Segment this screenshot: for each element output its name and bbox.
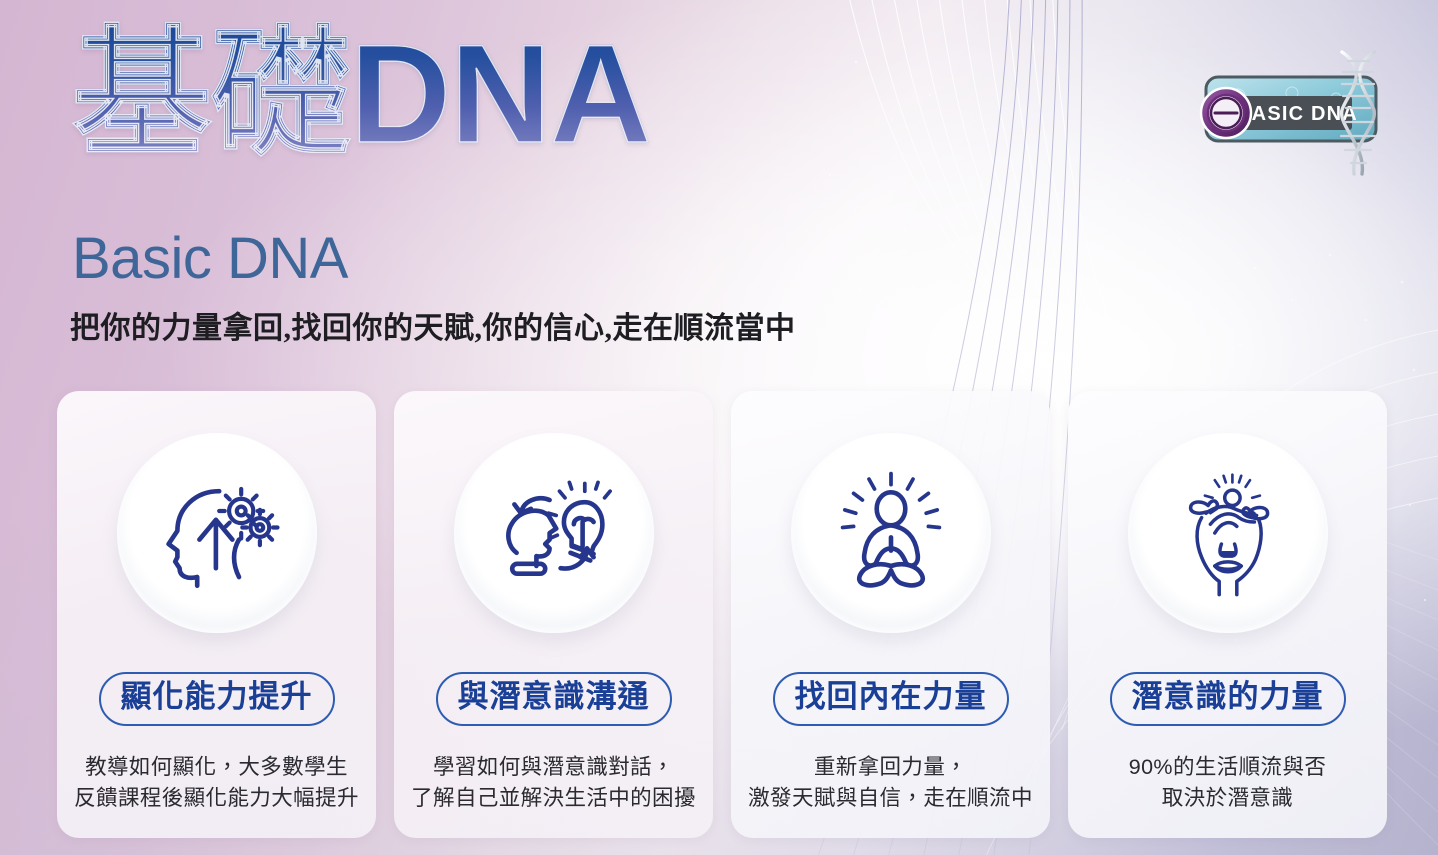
- feature-card[interactable]: 找回內在力量 重新拿回力量， 激發天賦與自信，走在順流中: [731, 391, 1050, 838]
- header: 基礎DNA Basic DNA 把你的力量拿回,找回你的天賦,你的信心,走在順流…: [0, 0, 1438, 380]
- meditating-person-radiance-icon: [825, 467, 957, 599]
- page-tagline: 把你的力量拿回,找回你的天賦,你的信心,走在順流當中: [70, 303, 796, 347]
- feature-title-pill[interactable]: 顯化能力提升: [99, 672, 335, 726]
- feature-card[interactable]: 潛意識的力量 90%的生活順流與否 取決於潛意識: [1068, 391, 1387, 838]
- feature-description: 學習如何與潛意識對話， 了解自己並解決生活中的困擾: [411, 752, 696, 814]
- basic-dna-logo-badge: BASIC DNA: [1196, 48, 1396, 180]
- badge-graphic: BASIC DNA: [1196, 48, 1396, 180]
- feature-description: 90%的生活順流與否 取決於潛意識: [1129, 752, 1327, 814]
- poster-canvas: 基礎DNA Basic DNA 把你的力量拿回,找回你的天賦,你的信心,走在順流…: [0, 0, 1438, 855]
- icon-badge: [1128, 433, 1328, 633]
- feature-card[interactable]: 與潛意識溝通 學習如何與潛意識對話， 了解自己並解決生活中的困擾: [394, 391, 713, 838]
- page-title: 基礎DNA: [72, 18, 650, 169]
- icon-badge: [117, 433, 317, 633]
- open-mind-face-sun-icon: [1162, 467, 1294, 599]
- feature-title-pill[interactable]: 潛意識的力量: [1110, 672, 1346, 726]
- feature-description: 重新拿回力量， 激發天賦與自信，走在順流中: [748, 752, 1033, 814]
- icon-badge: [454, 433, 654, 633]
- page-subtitle: Basic DNA: [72, 225, 348, 292]
- head-arrow-gears-icon: [151, 467, 283, 599]
- icon-badge: [791, 433, 991, 633]
- head-lightbulb-exchange-icon: [488, 467, 620, 599]
- feature-card-list: 顯化能力提升 教導如何顯化，大多數學生 反饋課程後顯化能力大幅提升: [57, 391, 1387, 838]
- feature-title-pill[interactable]: 找回內在力量: [773, 672, 1009, 726]
- theta-healing-emblem-icon: [1201, 88, 1251, 138]
- feature-title-pill[interactable]: 與潛意識溝通: [436, 672, 672, 726]
- badge-label: BASIC DNA: [1236, 103, 1358, 125]
- feature-card[interactable]: 顯化能力提升 教導如何顯化，大多數學生 反饋課程後顯化能力大幅提升: [57, 391, 376, 838]
- feature-description: 教導如何顯化，大多數學生 反饋課程後顯化能力大幅提升: [74, 752, 359, 814]
